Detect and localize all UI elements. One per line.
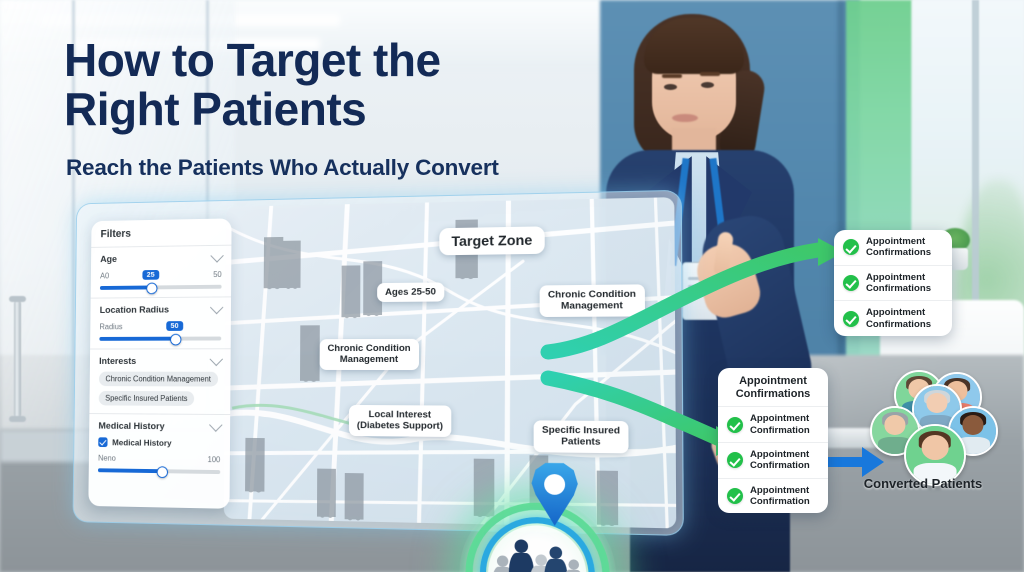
hub-patient-group [490,531,584,572]
map-person-silhouette [264,237,284,288]
interest-tag[interactable]: Specific Insured Patients [99,391,195,406]
infographic-canvas: How to Target the Right Patients Reach t… [0,0,1024,572]
confirmation-text: Appointment Confirmation [750,485,810,508]
chevron-down-icon[interactable] [209,418,222,432]
map-person-silhouette [300,325,320,381]
title-line-2: Right Patients [64,85,644,134]
radius-label: Radius [100,322,123,331]
age-slider-track[interactable] [100,285,222,290]
chevron-down-icon[interactable] [210,352,223,366]
filter-section-age[interactable]: Age A0 25 50 [91,246,232,299]
check-circle-icon [727,488,743,504]
converted-patients-avatars [852,378,994,488]
map-person-silhouette [317,469,336,517]
age-slider-knob[interactable] [146,283,157,295]
map-person-silhouette [341,265,360,317]
confirmation-text: Appointment Confirmations [866,272,931,295]
map-pin-icon [530,461,580,526]
page-subtitle: Reach the Patients Who Actually Convert [66,155,666,181]
confirmation-text: Appointment Confirmation [750,449,810,472]
confirmation-row[interactable]: Appointment Confirmations [834,300,952,336]
filter-section-location-radius[interactable]: Location Radius Radius 50 [90,297,231,349]
callout-ages[interactable]: Ages 25-50 [377,282,444,302]
confirmation-text: Appointment Confirmation [750,413,810,436]
map-person-silhouette [245,438,265,492]
medical-history-min-label: Neno [98,453,116,462]
appointment-confirmations-card-main[interactable]: Appointment Confirmations Appointment Co… [718,368,828,513]
filter-label-age: Age [100,254,117,265]
medical-history-slider-track[interactable] [98,468,220,474]
page-title: How to Target the Right Patients [64,36,644,134]
check-circle-icon [843,311,859,327]
callout-chronic-left[interactable]: Chronic Condition Management [320,339,419,370]
check-circle-icon [843,239,859,255]
confirmation-text: Appointment Confirmations [866,307,931,330]
interest-tag[interactable]: Chronic Condition Management [99,372,218,387]
medical-history-max-label: 100 [208,455,221,464]
map-person-silhouette [474,459,495,517]
check-circle-icon [727,417,743,433]
callout-local-interest[interactable]: Local Interest (Diabetes Support) [349,405,451,437]
confirmation-row[interactable]: Appointment Confirmations [834,230,952,265]
converted-patients-label: Converted Patients [840,476,1006,492]
medical-history-slider-knob[interactable] [156,466,167,478]
radius-slider-track[interactable] [99,337,221,341]
card-title: Appointment Confirmations [718,368,828,406]
confirmation-row[interactable]: Appointment Confirmations [834,265,952,301]
confirmation-row[interactable]: Appointment Confirmation [718,478,828,514]
age-min-label: A0 [100,271,109,280]
medical-history-checkbox-label: Medical History [112,437,171,447]
filter-label-medical-history: Medical History [98,421,164,432]
door-handle [14,300,21,418]
radius-value-badge: 50 [166,321,183,331]
filter-label-interests: Interests [99,356,136,367]
targeting-dashboard: Target Zone Ages 25-50 Chronic Condition… [73,190,684,536]
map-person-silhouette [597,471,618,525]
map-person-silhouette [283,241,301,288]
filters-heading: Filters [91,218,231,248]
age-max-label: 50 [213,270,222,279]
filter-section-medical-history[interactable]: Medical History Medical History Neno 100 [89,414,231,482]
chevron-down-icon[interactable] [210,248,223,262]
callout-chronic-right[interactable]: Chronic Condition Management [540,284,645,316]
appointment-confirmations-card-top[interactable]: Appointment Confirmations Appointment Co… [834,230,952,336]
age-value-badge: 25 [142,270,159,280]
filter-label-location-radius: Location Radius [100,305,169,316]
title-line-1: How to Target the [64,36,644,85]
medical-history-checkbox[interactable] [98,437,107,447]
check-circle-icon [843,275,859,291]
check-circle-icon [727,452,743,468]
chevron-down-icon[interactable] [210,300,223,314]
map-person-silhouette [345,473,364,520]
confirmation-text: Appointment Confirmations [866,236,931,259]
radius-slider-knob[interactable] [170,334,181,346]
callout-specific-insured[interactable]: Specific Insured Patients [534,420,629,453]
confirmation-row[interactable]: Appointment Confirmation [718,406,828,442]
callout-target-zone[interactable]: Target Zone [439,226,545,254]
filter-section-interests[interactable]: Interests Chronic Condition Management S… [89,349,230,415]
confirmation-row[interactable]: Appointment Confirmation [718,442,828,478]
filters-panel[interactable]: Filters Age A0 25 50 Location R [88,218,231,508]
